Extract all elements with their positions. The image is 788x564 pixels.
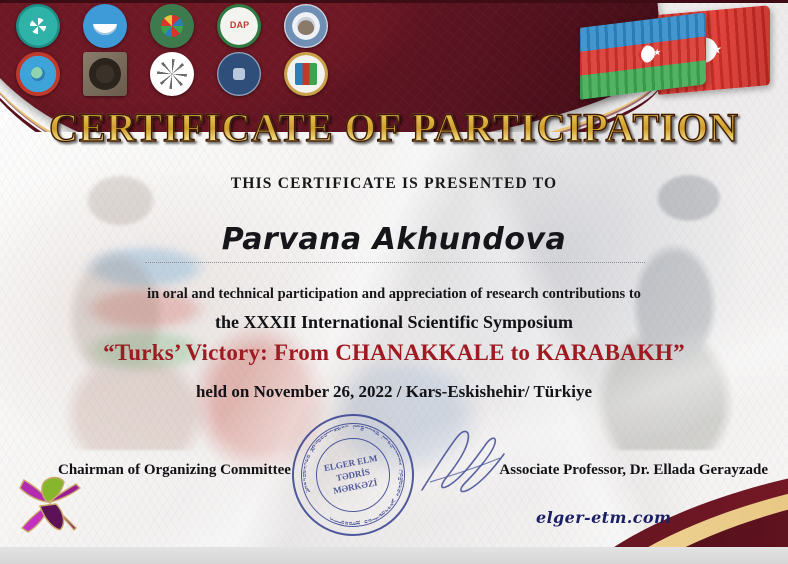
turkey-star-icon: ★	[711, 42, 723, 56]
azerbaijan-star-icon: ★	[653, 47, 661, 57]
signer-name-label: Associate Professor, Dr. Ellada Gerayzad…	[499, 462, 768, 479]
flame-flag-logo	[284, 52, 328, 96]
handwritten-signature	[410, 424, 520, 504]
certificate-page: ★ ★ CERTIFICATE OF PARTICIPATION THIS CE…	[0, 0, 788, 564]
bronze-star-logo	[83, 52, 127, 96]
kafkas-university-logo	[16, 4, 60, 48]
globe-institute-logo	[16, 52, 60, 96]
flags-group: ★ ★	[580, 6, 770, 104]
contribution-line: in oral and technical participation and …	[0, 286, 788, 303]
top-border-strip	[0, 0, 788, 3]
stamp-line-1: ELGER ELM	[323, 452, 379, 474]
azerbaijan-emblem-logo	[150, 4, 194, 48]
logo-row-2	[10, 52, 350, 96]
stamp-line-2: TƏDRİS	[325, 464, 381, 486]
page-title: CERTIFICATE OF PARTICIPATION	[0, 104, 788, 151]
presented-to-label: THIS CERTIFICATE IS PRESENTED TO	[0, 175, 788, 193]
dap-platform-logo	[217, 4, 261, 48]
recipient-name: Parvana Akhundova	[0, 222, 788, 257]
event-theme: “Turks’ Victory: From CHANAKKALE to KARA…	[0, 340, 788, 366]
navy-seal-logo	[217, 52, 261, 96]
orchid-flower-icon	[14, 466, 90, 538]
stamp-inner-text: ELGER ELM TƏDRİS MƏRKƏZİ	[323, 452, 383, 498]
portrait-medallion-logo	[284, 4, 328, 48]
chairman-role-label: Chairman of Organizing Committee	[58, 462, 291, 479]
event-details: held on November 26, 2022 / Kars-Eskishe…	[0, 382, 788, 402]
elger-logo	[83, 4, 127, 48]
logo-row-1	[10, 4, 350, 48]
official-stamp: Azərbaycan Respublikası Limited Liabilit…	[287, 409, 419, 541]
recipient-name-rule	[145, 262, 645, 263]
bottom-border-strip	[0, 547, 788, 564]
stamp-line-3: MƏRKƏZİ	[328, 476, 384, 498]
website-link[interactable]: elger-etm.com	[536, 508, 671, 527]
partner-logos	[10, 4, 350, 100]
event-line: the XXXII International Scientific Sympo…	[0, 312, 788, 333]
stamp-outer-ring-text: Azərbaycan Respublikası Limited Liabilit…	[289, 411, 417, 539]
snowflake-emblem-logo	[150, 52, 194, 96]
